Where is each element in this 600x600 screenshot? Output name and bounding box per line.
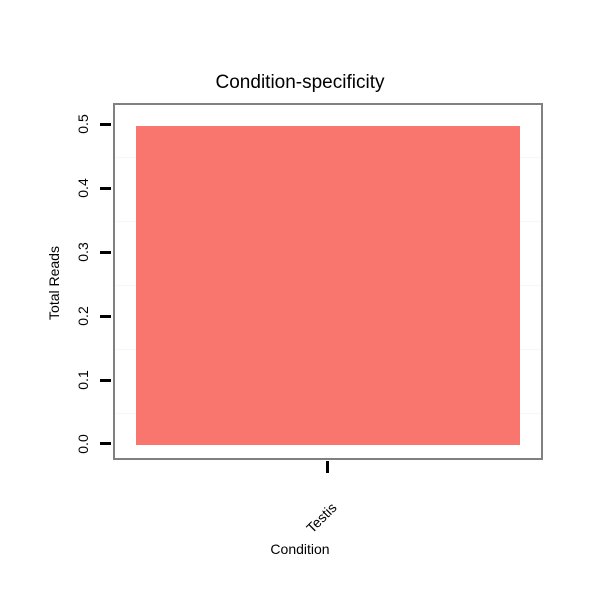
bar-testis	[136, 126, 519, 445]
bar-chart-figure: Condition-specificity 0.5 0.4 0.3 0.2 0.…	[0, 0, 600, 600]
y-tick-label-0.5: 0.5	[76, 114, 90, 133]
y-tick-label-0.3: 0.3	[76, 242, 90, 261]
y-axis-title: Total Reads	[47, 246, 61, 320]
y-tick-mark-0.1	[100, 379, 111, 382]
y-tick-label-0.0: 0.0	[76, 434, 90, 453]
y-tick-mark-0.2	[100, 315, 111, 318]
y-tick-label-0.2: 0.2	[76, 306, 90, 325]
y-tick-mark-0.3	[100, 251, 111, 254]
y-tick-mark-0.4	[100, 187, 111, 190]
y-tick-mark-0.0	[100, 442, 111, 445]
x-tick-label-testis: Testis	[304, 500, 339, 535]
y-tick-label-0.1: 0.1	[76, 370, 90, 389]
x-axis-title: Condition	[0, 541, 600, 557]
chart-title: Condition-specificity	[0, 72, 600, 94]
plot-panel	[113, 103, 543, 460]
y-tick-label-0.4: 0.4	[76, 178, 90, 197]
x-tick-mark-testis	[326, 461, 329, 473]
y-tick-mark-0.5	[100, 123, 111, 126]
